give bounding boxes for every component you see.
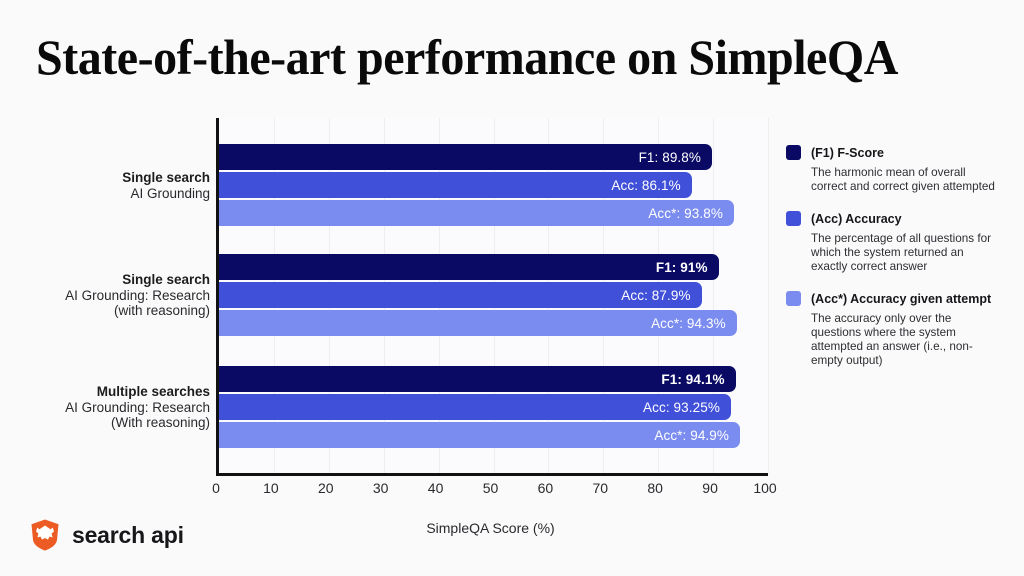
brave-lion-shield-icon	[29, 518, 61, 552]
bar-value-label: Acc*: 94.9%	[654, 428, 729, 443]
x-axis-tick-label: 80	[647, 480, 663, 496]
legend-item-description: The harmonic mean of overall correct and…	[811, 166, 997, 194]
bar-value-label: F1: 94.1%	[661, 372, 724, 387]
bar-row: Acc: 86.1%	[219, 172, 768, 198]
category-label-secondary: AI Grounding	[14, 186, 210, 202]
bar-acc[interactable]: Acc: 87.9%	[219, 282, 702, 308]
bar-value-label: Acc: 93.25%	[643, 400, 720, 415]
x-axis-tick-label: 10	[263, 480, 279, 496]
bar-value-label: Acc: 86.1%	[611, 178, 680, 193]
bar-value-label: Acc*: 93.8%	[648, 206, 723, 221]
bar-row: Acc*: 94.3%	[219, 310, 768, 336]
bar-row: F1: 91%	[219, 254, 768, 280]
slide-canvas: State-of-the-art performance on SimpleQA…	[0, 0, 1024, 576]
bar-value-label: Acc*: 94.3%	[651, 316, 726, 331]
legend-swatch-icon	[786, 291, 801, 306]
x-axis-tick-label: 70	[593, 480, 609, 496]
bar-value-label: F1: 89.8%	[639, 150, 701, 165]
bar-accstar[interactable]: Acc*: 93.8%	[219, 200, 734, 226]
bar-group: F1: 94.1%Acc: 93.25%Acc*: 94.9%	[219, 366, 768, 450]
brand-logo: search api	[29, 518, 184, 552]
bar-row: Acc: 93.25%	[219, 394, 768, 420]
x-axis-tick-label: 30	[373, 480, 389, 496]
x-axis-tick-label: 40	[428, 480, 444, 496]
x-axis-tick-label: 20	[318, 480, 334, 496]
legend-item-description: The accuracy only over the questions whe…	[811, 312, 997, 368]
bar-value-label: Acc: 87.9%	[621, 288, 690, 303]
legend-item[interactable]: (Acc*) Accuracy given attemptThe accurac…	[786, 291, 1011, 368]
bar-accstar[interactable]: Acc*: 94.3%	[219, 310, 737, 336]
bar-f1[interactable]: F1: 94.1%	[219, 366, 736, 392]
plot-area: F1: 89.8%Acc: 86.1%Acc*: 93.8%F1: 91%Acc…	[216, 118, 768, 476]
legend-swatch-icon	[786, 145, 801, 160]
gridline	[768, 118, 769, 473]
x-axis-tick-label: 60	[538, 480, 554, 496]
bar-row: Acc*: 94.9%	[219, 422, 768, 448]
x-axis-tick-label: 90	[702, 480, 718, 496]
x-axis-tick-label: 50	[483, 480, 499, 496]
bar-row: F1: 89.8%	[219, 144, 768, 170]
legend-item-header: (Acc*) Accuracy given attempt	[786, 291, 1011, 306]
bar-value-label: F1: 91%	[656, 260, 708, 275]
bar-row: F1: 94.1%	[219, 366, 768, 392]
bar-f1[interactable]: F1: 89.8%	[219, 144, 712, 170]
legend-item-header: (F1) F-Score	[786, 145, 1011, 160]
legend-item[interactable]: (Acc) AccuracyThe percentage of all ques…	[786, 211, 1011, 274]
bar-row: Acc*: 93.8%	[219, 200, 768, 226]
category-label-secondary: AI Grounding: Research	[14, 400, 210, 416]
bar-group: F1: 89.8%Acc: 86.1%Acc*: 93.8%	[219, 144, 768, 228]
legend-item-title: (Acc) Accuracy	[811, 212, 902, 226]
category-label: Single searchAI Grounding	[14, 170, 210, 201]
x-axis-tick-label: 0	[212, 480, 220, 496]
legend-item[interactable]: (F1) F-ScoreThe harmonic mean of overall…	[786, 145, 1011, 194]
category-label-primary: Single search	[14, 170, 210, 186]
legend-item-title: (Acc*) Accuracy given attempt	[811, 292, 991, 306]
x-axis-tick-label: 100	[753, 480, 776, 496]
legend-swatch-icon	[786, 211, 801, 226]
category-label-tertiary: (With reasoning)	[14, 415, 210, 431]
category-label-tertiary: (with reasoning)	[14, 303, 210, 319]
category-label-primary: Multiple searches	[14, 384, 210, 400]
category-label-secondary: AI Grounding: Research	[14, 288, 210, 304]
category-label-column: Single searchAI GroundingSingle searchAI…	[0, 118, 210, 473]
category-label: Multiple searchesAI Grounding: Research(…	[14, 384, 210, 431]
brand-name: search api	[72, 522, 184, 549]
x-axis-ticks: 0102030405060708090100	[216, 480, 765, 500]
bar-row: Acc: 87.9%	[219, 282, 768, 308]
legend-item-description: The percentage of all questions for whic…	[811, 232, 997, 274]
category-label-primary: Single search	[14, 272, 210, 288]
bar-group: F1: 91%Acc: 87.9%Acc*: 94.3%	[219, 254, 768, 338]
bar-accstar[interactable]: Acc*: 94.9%	[219, 422, 740, 448]
chart-legend: (F1) F-ScoreThe harmonic mean of overall…	[786, 145, 1011, 385]
bar-acc[interactable]: Acc: 86.1%	[219, 172, 692, 198]
bar-acc[interactable]: Acc: 93.25%	[219, 394, 731, 420]
x-axis-title: SimpleQA Score (%)	[216, 520, 765, 536]
category-label: Single searchAI Grounding: Research(with…	[14, 272, 210, 319]
legend-item-title: (F1) F-Score	[811, 146, 884, 160]
bar-f1[interactable]: F1: 91%	[219, 254, 719, 280]
legend-item-header: (Acc) Accuracy	[786, 211, 1011, 226]
